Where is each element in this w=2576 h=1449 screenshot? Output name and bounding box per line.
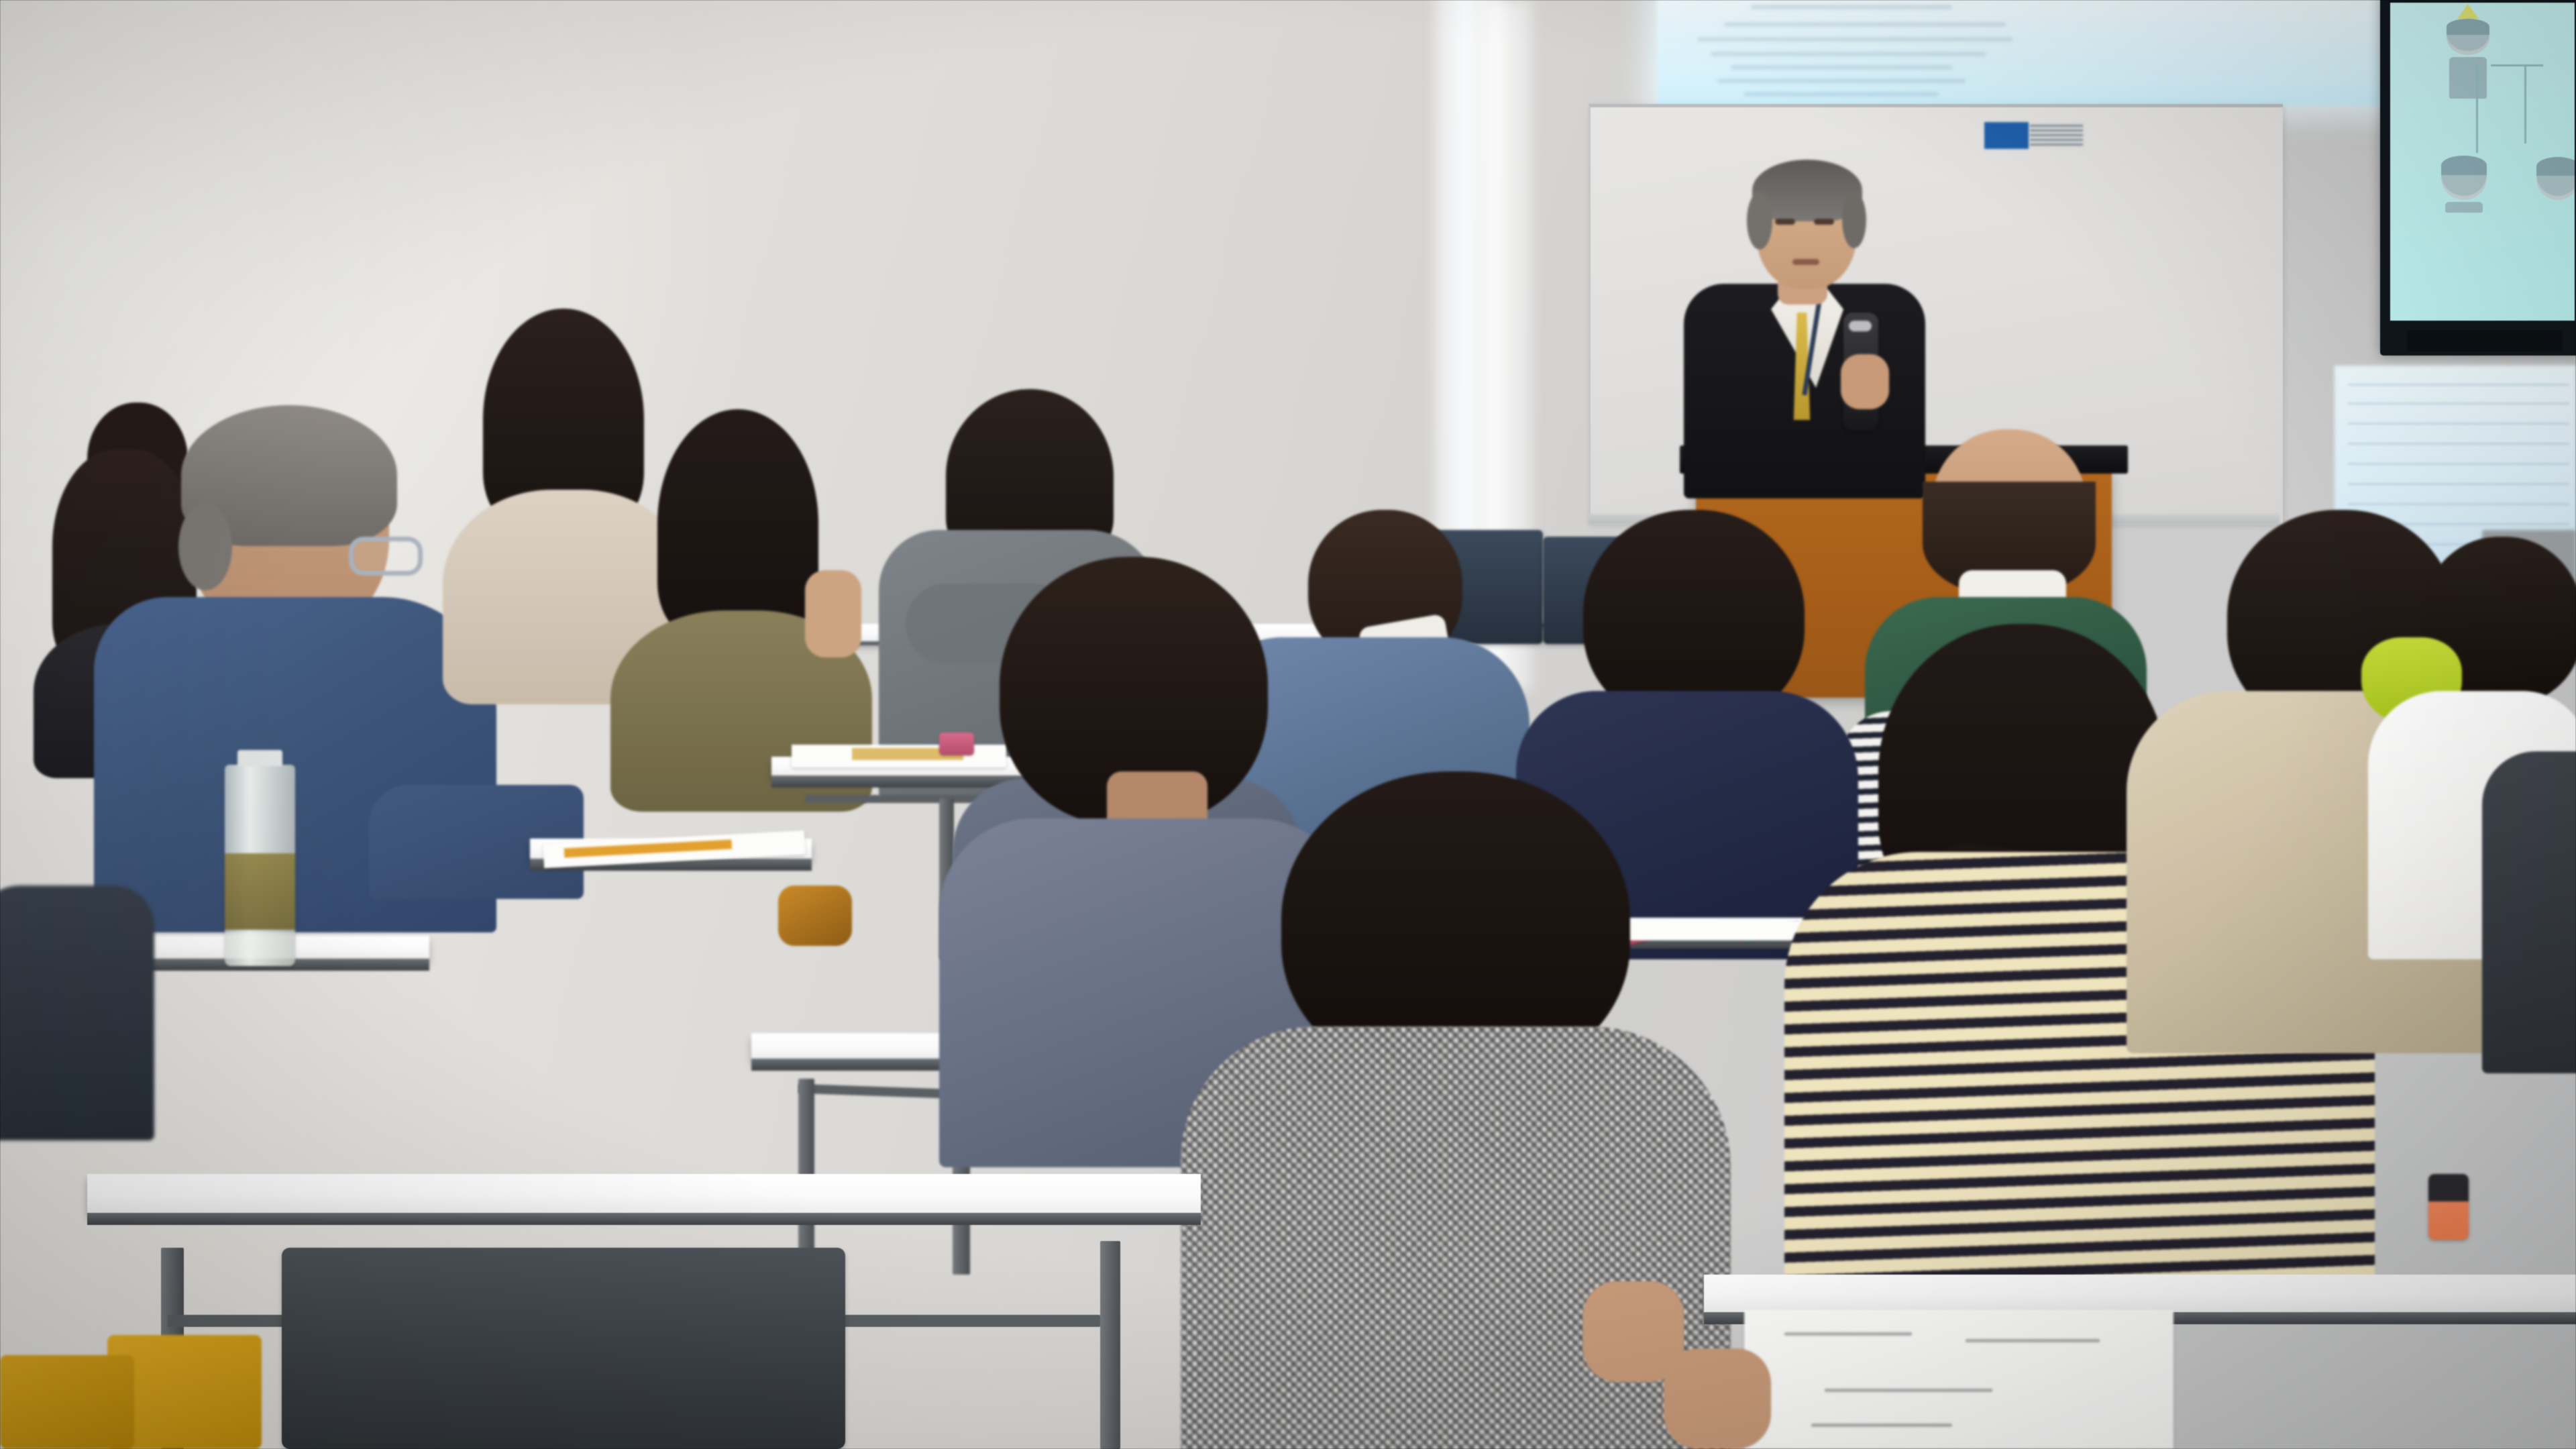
blue-notice-sign: [1984, 122, 2085, 149]
display-slide: [2390, 3, 2575, 321]
seminar-room-photo: Lecture / seminar room with audience fac…: [0, 0, 2576, 1449]
desk-leg-3: [798, 1079, 814, 1267]
slide-figure-right: [2536, 157, 2575, 200]
presenter-hand: [1841, 354, 1889, 409]
chair-foreground: [282, 1248, 845, 1449]
slide-caption-right-sub: [2536, 224, 2539, 233]
slide-figure-left: [2441, 156, 2487, 213]
audience-woman-olive-top: [604, 409, 872, 798]
water-bottle: [225, 765, 295, 966]
hair-long: [657, 409, 818, 637]
houndstooth-jacket: [1181, 1026, 1731, 1449]
slide-caption-top: [2492, 56, 2495, 65]
tote-bag-second: [0, 1355, 134, 1449]
slide-figure-top: [2447, 4, 2489, 99]
small-bag-orange: [778, 885, 852, 946]
bottle-label: [225, 853, 295, 930]
audience-woman-tweed-jacket: [1181, 771, 1744, 1449]
handout-frontmost: [1744, 1309, 2173, 1449]
audience-person-dark-right-edge: [2482, 724, 2576, 1073]
smartphone: [2428, 1174, 2469, 1240]
wall-mounted-display: [2380, 0, 2576, 356]
dark-jacket: [2482, 751, 2576, 1073]
dark-top: [0, 885, 154, 1140]
slide-caption-right: [2544, 38, 2547, 46]
presenter-hair-side-right: [1842, 192, 1866, 248]
bottle-cap: [237, 750, 282, 766]
slide-caption-left: [2438, 224, 2441, 233]
hair-gray-side: [178, 503, 232, 590]
desk-frontmost-left: [87, 1174, 1201, 1213]
sign-color-swatch: [1984, 122, 2029, 149]
audience-person-left-edge: [0, 885, 161, 1154]
desk-frontmost-right: [1704, 1275, 2576, 1312]
presenter-mouth: [1792, 259, 1819, 265]
slide-caption-top-sub: [2455, 102, 2457, 111]
eyeglasses: [349, 537, 423, 576]
sign-text-lines: [2029, 122, 2085, 149]
raised-hand: [805, 570, 861, 657]
hand-frontmost: [1664, 1348, 1771, 1449]
overhead-projected-slide: [1657, 0, 2449, 106]
desk-leg-5: [1100, 1241, 1120, 1449]
presenter-eye-right: [1814, 219, 1834, 225]
microphone-highlight: [1849, 321, 1872, 331]
presenter-hair-side-left: [1747, 192, 1772, 250]
presenter-eye-left: [1775, 219, 1795, 225]
display-bezel-bottom: [2407, 330, 2563, 352]
